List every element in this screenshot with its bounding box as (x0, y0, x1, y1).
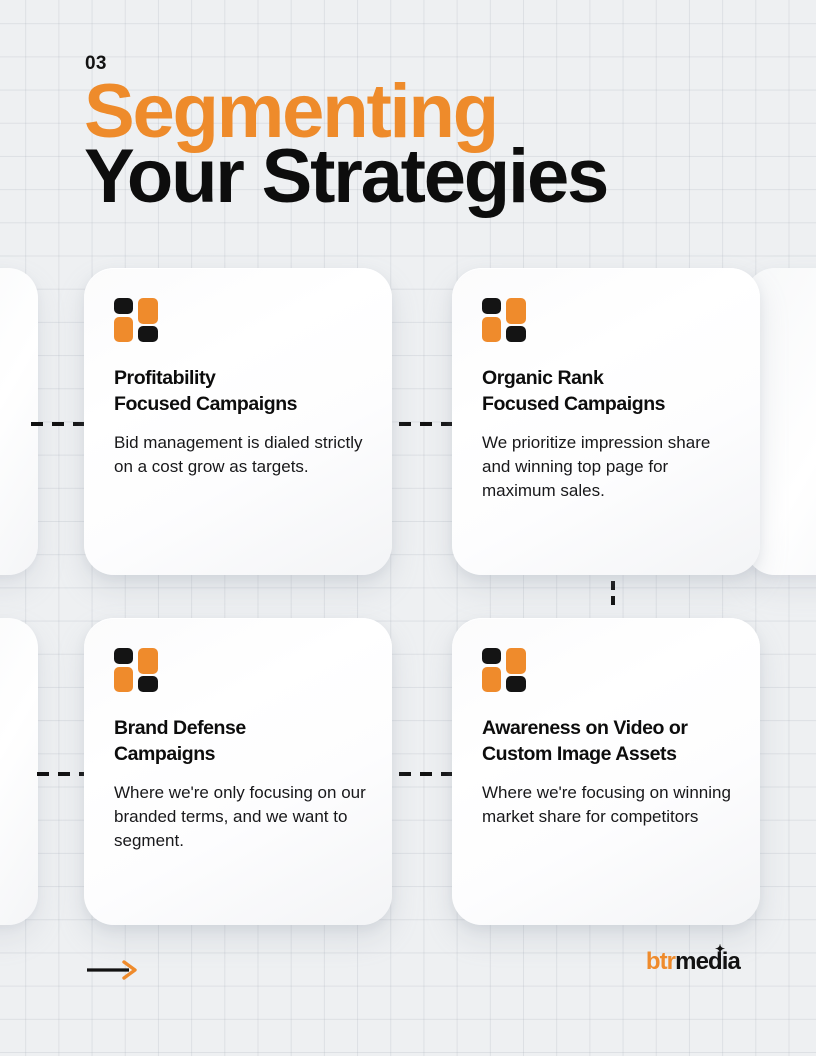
brand-logo: btrmedia ✦ (646, 950, 740, 974)
four-block-grid-icon (114, 298, 160, 342)
brand-logo-secondary: media (675, 948, 740, 975)
card-title: Brand Defense Campaigns (114, 716, 374, 767)
card-title: Organic Rank Focused Campaigns (482, 366, 742, 417)
sparkle-icon: ✦ (715, 945, 724, 954)
brand-logo-primary: btr (646, 948, 675, 975)
connector-dash-row2-middle (399, 772, 453, 776)
card-description: Where we're focusing on winning market s… (482, 781, 737, 829)
strategy-card-profitability[interactable]: Profitability Focused Campaigns Bid mana… (84, 268, 392, 575)
card-description: Where we're only focusing on our branded… (114, 781, 369, 853)
slide-canvas: 03 Segmenting Your Strategies Profitabil… (0, 0, 816, 1056)
connector-dash-vertical (611, 581, 615, 609)
arrow-right-icon[interactable] (85, 958, 145, 982)
card-description: Bid management is dialed strictly on a c… (114, 431, 369, 479)
connector-dash-row1-middle (399, 422, 453, 426)
four-block-grid-icon (114, 648, 160, 692)
page-title-line-2: Your Strategies (84, 144, 607, 209)
card-description: We prioritize impression share and winni… (482, 431, 737, 503)
strategy-card-brand-defense[interactable]: Brand Defense Campaigns Where we're only… (84, 618, 392, 925)
connector-dash-row2-left (37, 772, 86, 776)
strategy-card-awareness[interactable]: Awareness on Video or Custom Image Asset… (452, 618, 760, 925)
four-block-grid-icon (482, 298, 528, 342)
page-title: Segmenting Your Strategies (84, 79, 607, 210)
connector-dash-row1-left (31, 422, 85, 426)
four-block-grid-icon (482, 648, 528, 692)
strategy-card-organic-rank[interactable]: Organic Rank Focused Campaigns We priori… (452, 268, 760, 575)
card-title: Profitability Focused Campaigns (114, 366, 374, 417)
decorative-card-left-bottom (0, 618, 38, 925)
card-title: Awareness on Video or Custom Image Asset… (482, 716, 742, 767)
